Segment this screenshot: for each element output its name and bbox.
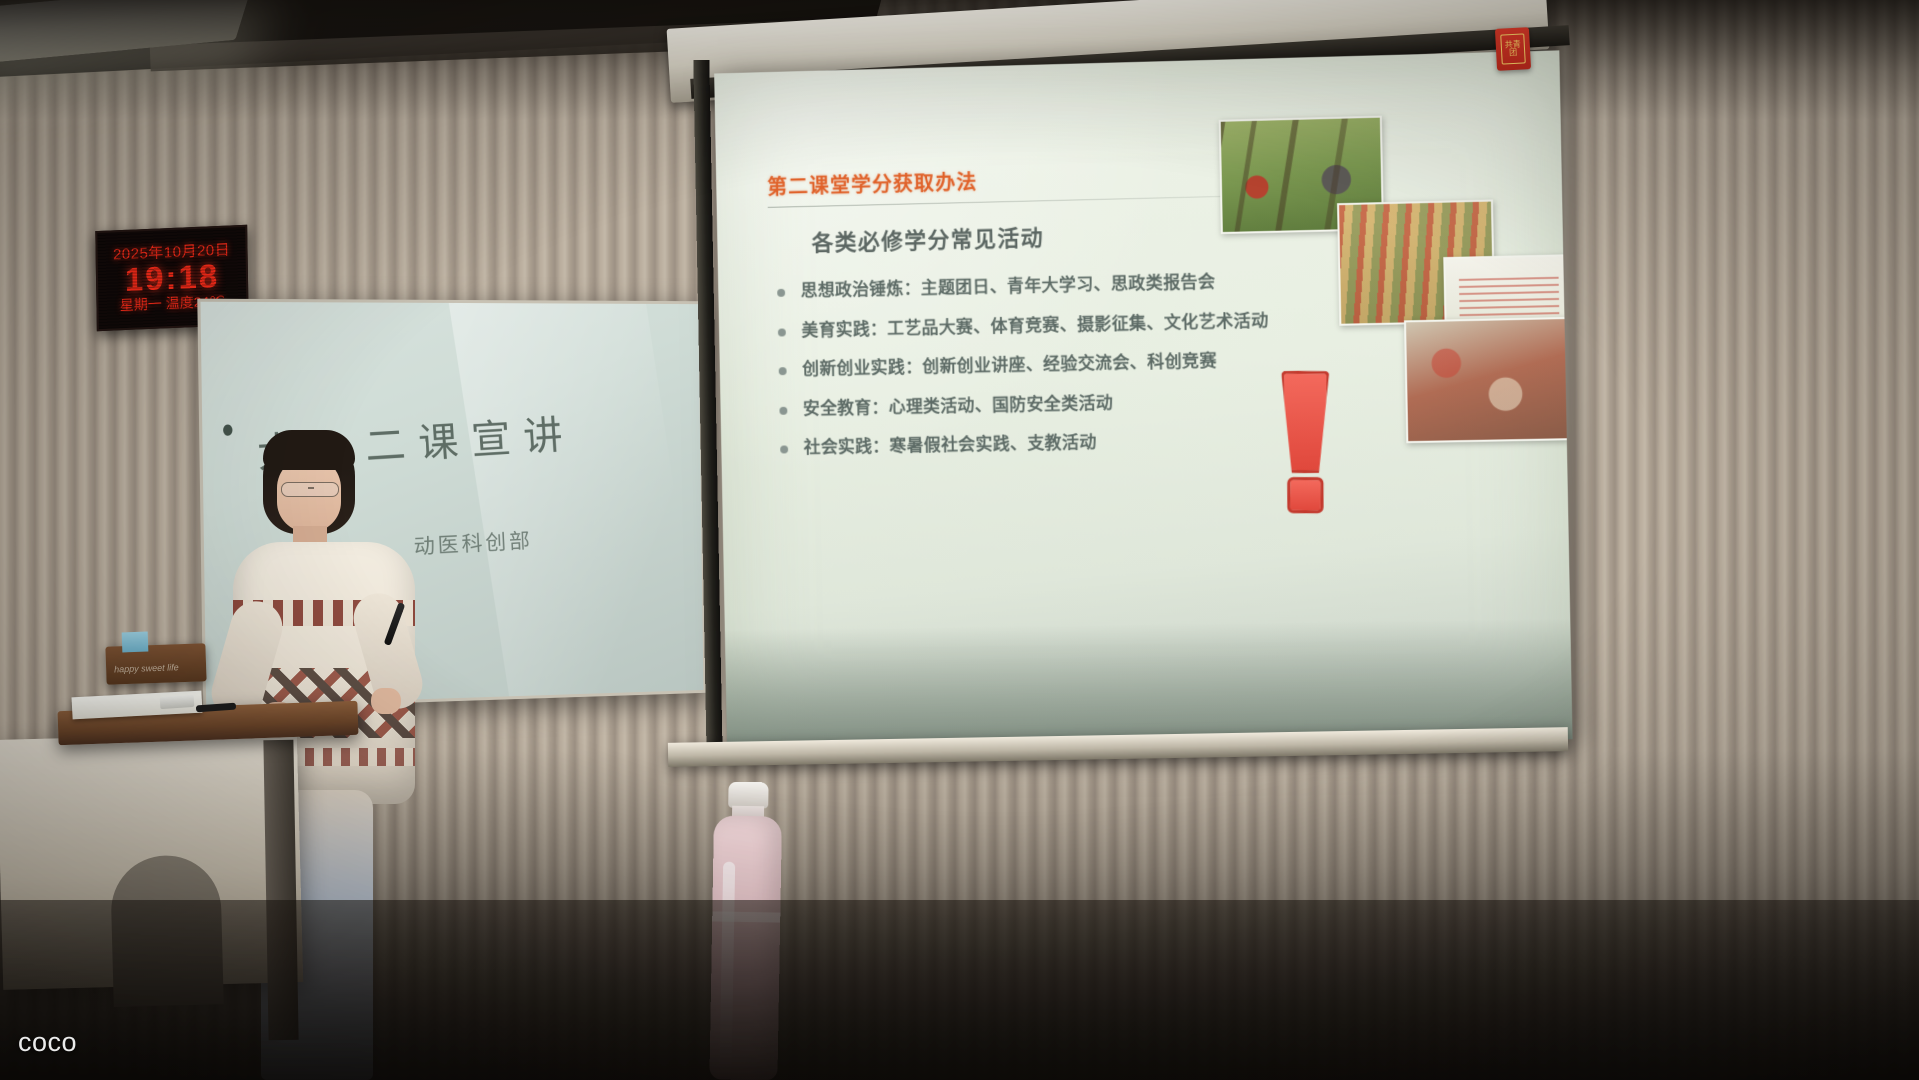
presenter-fringe xyxy=(263,430,355,470)
list-item: 创新创业实践：创新创业讲座、经验交流会、科创竞赛 xyxy=(776,346,1293,384)
presentation-slide: 第二课堂学分获取办法 各类必修学分常见活动 思想政治锤炼：主题团日、青年大学习、… xyxy=(738,87,1548,633)
watermark: coco xyxy=(18,1027,77,1058)
led-clock-weekday: 星期一 xyxy=(120,295,162,313)
list-item: 安全教育：心理类活动、国防安全类活动 xyxy=(777,386,1294,423)
screenshot-stage: 2025年10月20日 19:18 星期一 温度24℃ 大一二课宣讲 动医科创部… xyxy=(0,0,1919,1080)
tissue-box xyxy=(122,632,149,653)
list-item: 思想政治锤炼：主题团日、青年大学习、思政类报告会 xyxy=(775,267,1292,306)
projector-screen: 第二课堂学分获取办法 各类必修学分常见活动 思想政治锤炼：主题团日、青年大学习、… xyxy=(714,50,1572,748)
exclamation-dot xyxy=(1287,477,1323,513)
slide-bullet-list: 思想政治锤炼：主题团日、青年大学习、思政类报告会 美育实践：工艺品大赛、体育竞赛… xyxy=(775,267,1296,474)
whiteboard-glare xyxy=(445,299,706,710)
floor-shadow xyxy=(0,900,1919,1080)
whiteboard-eraser xyxy=(160,695,195,709)
youth-league-badge-label: 共青团 xyxy=(1500,33,1526,64)
pen-tray-label: happy sweet life xyxy=(114,662,179,674)
youth-league-badge-icon: 共青团 xyxy=(1495,27,1531,71)
exclamation-bar xyxy=(1281,371,1330,473)
list-item: 美育实践：工艺品大赛、体育竞赛、摄影征集、文化艺术活动 xyxy=(776,306,1293,344)
slide-title: 第二课堂学分获取办法 xyxy=(767,166,978,200)
presenter-glasses xyxy=(281,482,339,497)
slide-heading: 各类必修学分常见活动 xyxy=(811,220,1044,257)
list-item: 社会实践：寒暑假社会实践、支教活动 xyxy=(778,425,1295,462)
water-bottle-cap xyxy=(728,782,768,809)
slide-photo-classroom xyxy=(1404,317,1569,443)
pen-tray: happy sweet life xyxy=(105,643,206,684)
exclamation-mark-icon xyxy=(1277,371,1328,514)
led-clock-time: 19:18 xyxy=(125,259,220,298)
